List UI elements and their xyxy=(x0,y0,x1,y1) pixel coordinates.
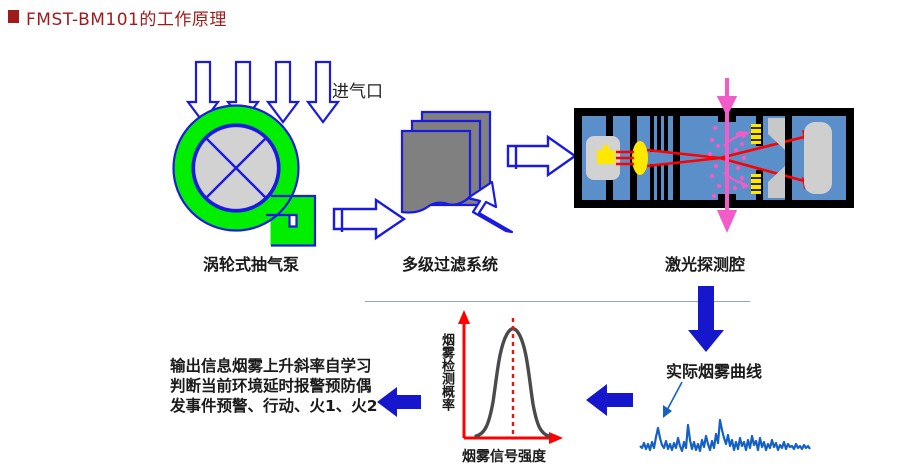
laser-detection-chamber-caption: 激光探测腔 xyxy=(665,251,745,275)
laser-detection-chamber-graphic xyxy=(572,78,857,228)
actual-smoke-curve-caption: 实际烟雾曲线 xyxy=(666,358,762,382)
connector-arrow-chamber-to-curve xyxy=(684,286,728,352)
page-header: FMST-BM101的工作原理 xyxy=(0,2,912,32)
smoke-probability-chart xyxy=(455,306,570,446)
page-title: FMST-BM101的工作原理 xyxy=(26,5,227,30)
title-marker-icon xyxy=(8,10,19,23)
connector-arrow-filter-to-chamber xyxy=(505,133,581,179)
connector-arrow-curve-to-chart xyxy=(584,383,636,417)
diagram-canvas: FMST-BM101的工作原理 进气口 涡轮式抽气泵 xyxy=(0,0,912,466)
turbine-pump-caption: 涡轮式抽气泵 xyxy=(203,251,299,275)
smoke-waveform xyxy=(640,420,810,451)
chart-y-axis-label: 烟雾检测概率 xyxy=(437,333,456,433)
output-information-text: 输出信息烟雾上升斜率自学习判断当前环境延时报警预防偶发事件预警、行动、火1、火2 xyxy=(170,356,385,416)
actual-smoke-curve-graphic xyxy=(630,380,840,460)
multi-stage-filter-caption: 多级过滤系统 xyxy=(402,251,498,275)
chart-x-axis-label: 烟雾信号强度 xyxy=(462,446,546,466)
inlet-label: 进气口 xyxy=(332,77,383,102)
